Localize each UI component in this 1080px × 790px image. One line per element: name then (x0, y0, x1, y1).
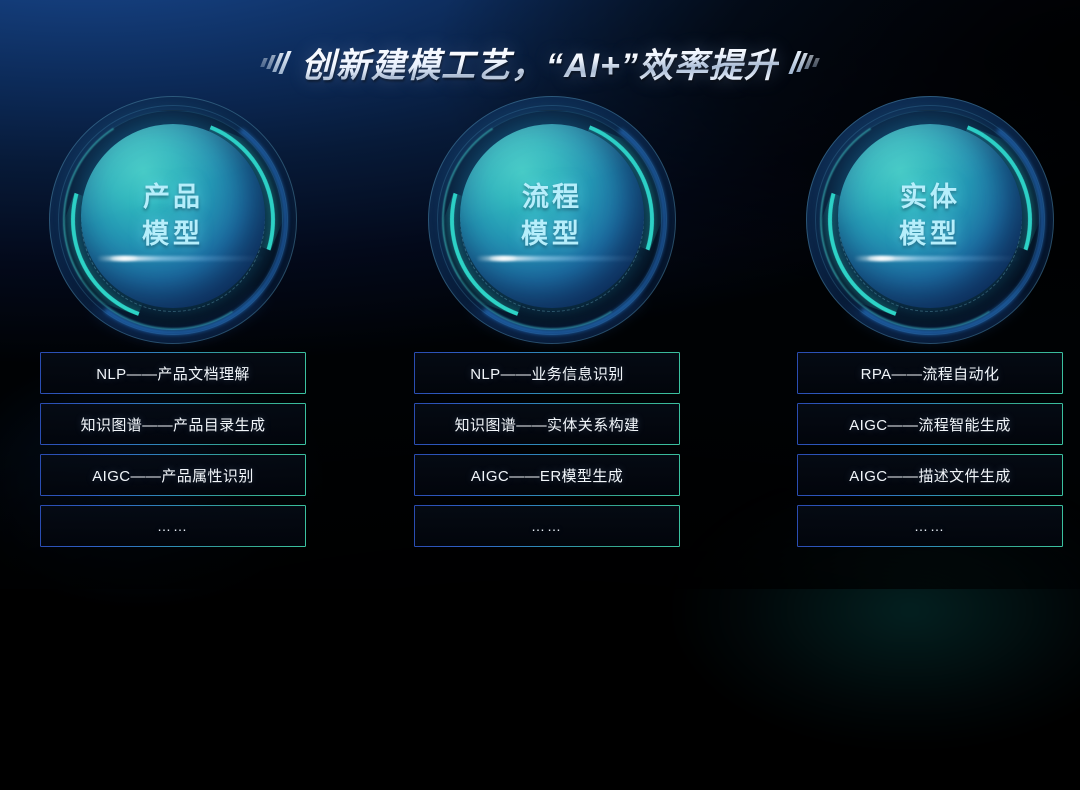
list-item[interactable]: …… (797, 505, 1063, 547)
circle-label-line1: 实体 (900, 181, 960, 214)
page-title: 创新建模工艺，“AI+”效率提升 (301, 38, 779, 87)
item-label: 知识图谱——产品目录生成 (81, 414, 266, 435)
circle-label-line2: 模型 (142, 218, 204, 251)
capability-column-process: NLP——业务信息识别 知识图谱——实体关系构建 AIGC——ER模型生成 …… (414, 352, 680, 556)
title-slash-decoration-left (262, 47, 287, 77)
list-item[interactable]: 知识图谱——产品目录生成 (40, 403, 306, 445)
model-circle-entity[interactable]: 实体 模型 (806, 96, 1054, 344)
item-label: …… (157, 518, 189, 534)
slide-title-row: 创新建模工艺，“AI+”效率提升 (0, 34, 1080, 90)
circle-label-line1: 流程 (522, 181, 582, 214)
list-item[interactable]: AIGC——描述文件生成 (797, 454, 1063, 496)
list-item[interactable]: NLP——产品文档理解 (40, 352, 306, 394)
item-label: NLP——业务信息识别 (470, 363, 624, 384)
item-label: AIGC——ER模型生成 (471, 465, 623, 486)
list-item[interactable]: …… (414, 505, 680, 547)
capability-column-entity: RPA——流程自动化 AIGC——流程智能生成 AIGC——描述文件生成 …… (797, 352, 1063, 556)
model-circles-group: 产品 模型 流程 模型 (0, 96, 1080, 344)
circle-label-line2: 模型 (521, 218, 583, 251)
item-label: RPA——流程自动化 (861, 363, 1000, 384)
list-item[interactable]: NLP——业务信息识别 (414, 352, 680, 394)
circle-label-entity: 实体 模型 (838, 124, 1022, 308)
model-circle-product[interactable]: 产品 模型 (49, 96, 297, 344)
circle-label-process: 流程 模型 (460, 124, 644, 308)
item-label: AIGC——产品属性识别 (92, 465, 253, 486)
capability-column-product: NLP——产品文档理解 知识图谱——产品目录生成 AIGC——产品属性识别 …… (40, 352, 306, 556)
item-label: NLP——产品文档理解 (96, 363, 250, 384)
list-item[interactable]: …… (40, 505, 306, 547)
list-item[interactable]: RPA——流程自动化 (797, 352, 1063, 394)
model-circle-process[interactable]: 流程 模型 (428, 96, 676, 344)
item-label: …… (914, 518, 946, 534)
list-item[interactable]: AIGC——产品属性识别 (40, 454, 306, 496)
circle-label-line1: 产品 (143, 181, 203, 214)
circle-label-line2: 模型 (899, 218, 961, 251)
circle-label-product: 产品 模型 (81, 124, 265, 308)
item-label: …… (531, 518, 563, 534)
capability-columns: NLP——产品文档理解 知识图谱——产品目录生成 AIGC——产品属性识别 ……… (0, 352, 1080, 552)
item-label: AIGC——描述文件生成 (849, 465, 1010, 486)
list-item[interactable]: AIGC——ER模型生成 (414, 454, 680, 496)
item-label: AIGC——流程智能生成 (849, 414, 1010, 435)
item-label: 知识图谱——实体关系构建 (455, 414, 640, 435)
title-slash-decoration-right (793, 47, 818, 77)
list-item[interactable]: AIGC——流程智能生成 (797, 403, 1063, 445)
list-item[interactable]: 知识图谱——实体关系构建 (414, 403, 680, 445)
